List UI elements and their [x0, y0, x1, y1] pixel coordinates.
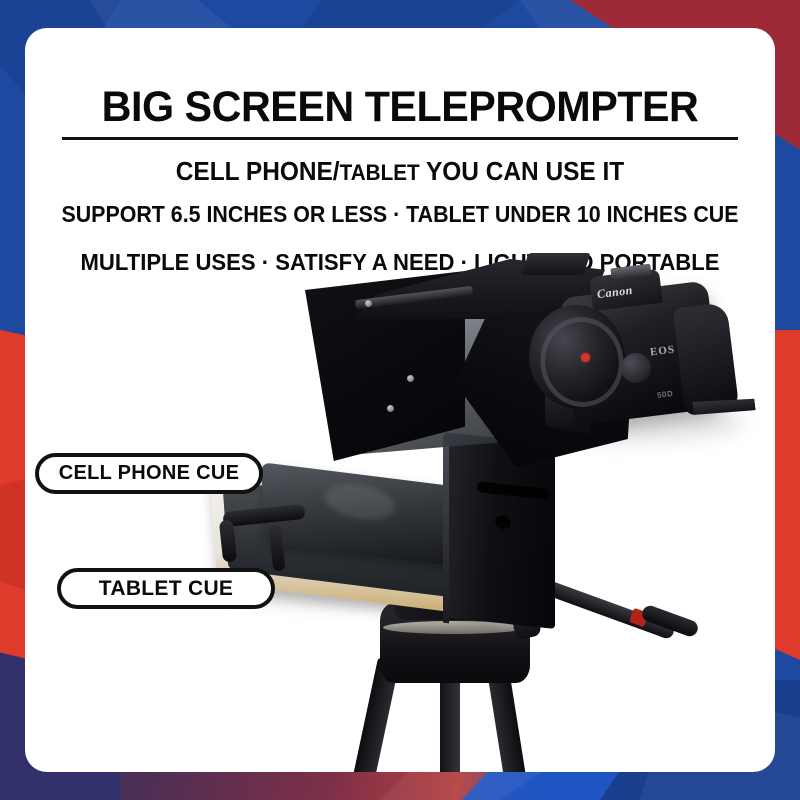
subtitle-line-1-part-a: CELL PHONE/	[176, 156, 340, 186]
product-poster: BIG SCREEN TELEPROMPTER CELL PHONE/TABLE…	[0, 0, 800, 800]
teleprompter-hood-tab	[521, 253, 590, 275]
headings-block: BIG SCREEN TELEPROMPTER CELL PHONE/TABLE…	[25, 28, 775, 276]
support-plate-edge	[443, 441, 449, 624]
hood-screw	[365, 300, 372, 307]
product-photo: Canon EOS 50D	[25, 253, 775, 772]
hood-screw	[387, 405, 394, 412]
camera-lens-mount-dot	[581, 353, 590, 362]
hood-screw	[407, 375, 414, 382]
badge-cell-phone-cue: CELL PHONE CUE	[35, 453, 263, 494]
badge-tablet-cue-label: TABLET CUE	[99, 577, 233, 601]
title-underline-rule	[62, 137, 738, 140]
subtitle-line-1-part-c: YOU CAN USE IT	[420, 156, 625, 186]
content-card: BIG SCREEN TELEPROMPTER CELL PHONE/TABLE…	[25, 28, 775, 772]
badge-tablet-cue: TABLET CUE	[57, 568, 275, 609]
subtitle-line-1-part-b: TABLET	[340, 160, 420, 185]
subtitle-line-1: CELL PHONE/TABLET YOU CAN USE IT	[48, 156, 753, 187]
badge-cell-phone-cue-label: CELL PHONE CUE	[59, 462, 240, 485]
subtitle-line-2: SUPPORT 6.5 INCHES OR LESS · TABLET UNDE…	[51, 201, 749, 228]
page-title: BIG SCREEN TELEPROMPTER	[40, 86, 760, 129]
support-plate	[443, 432, 555, 629]
